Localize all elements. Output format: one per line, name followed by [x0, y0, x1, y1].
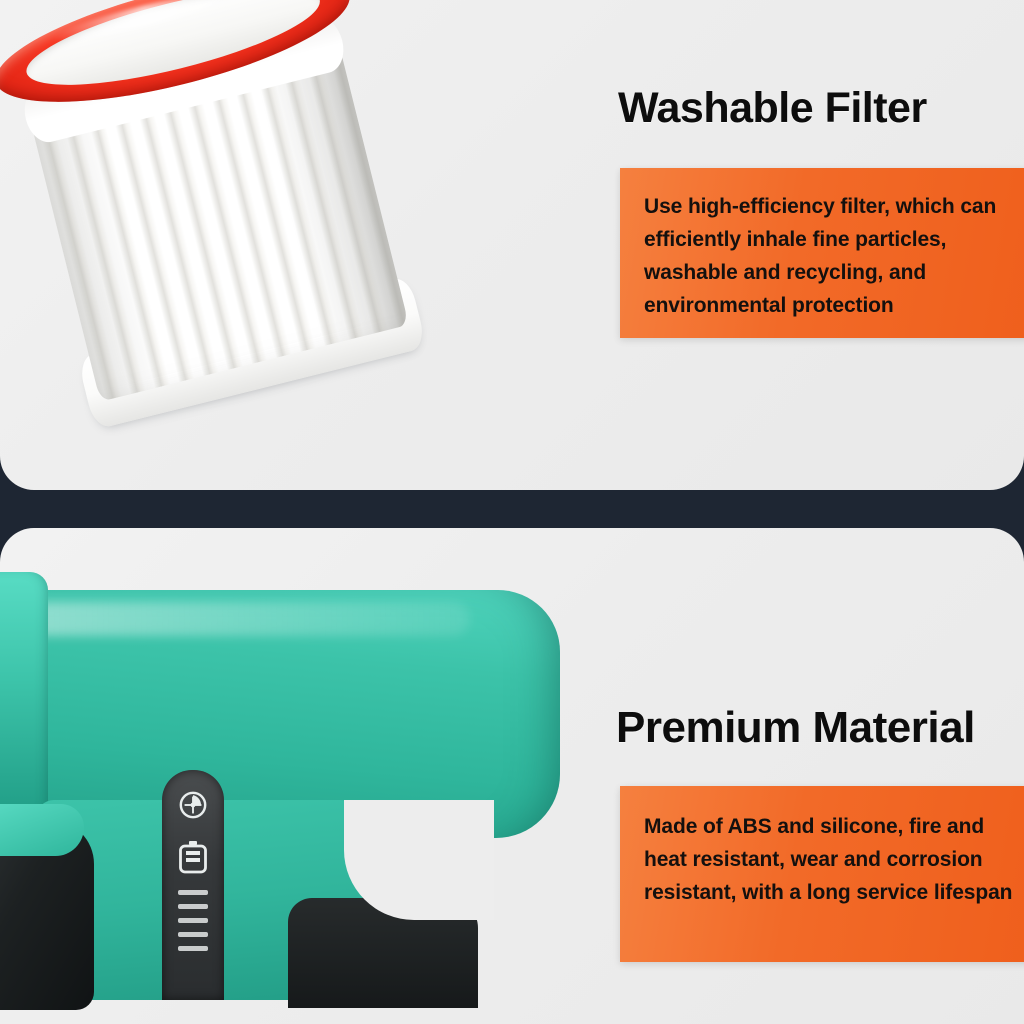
callout-text-premium-material: Made of ABS and silicone, fire and heat … — [644, 810, 1014, 909]
vacuum-underside-notch — [344, 800, 494, 920]
vacuum-front-collar — [0, 572, 48, 824]
fan-icon — [178, 790, 208, 820]
callout-text-washable-filter: Use high-efficiency filter, which can ef… — [644, 190, 1014, 322]
vacuum-barrel-highlight — [30, 602, 470, 636]
product-feature-banner: Washable Filter Use high-efficiency filt… — [0, 0, 1024, 1024]
callout-box-washable-filter: Use high-efficiency filter, which can ef… — [620, 168, 1024, 338]
battery-level-bars — [178, 890, 208, 960]
feature-panel-premium-material: Premium Material Made of ABS and silicon… — [0, 528, 1024, 1024]
handheld-vacuum-product-image — [0, 528, 600, 998]
page-title-premium-material: Premium Material — [616, 703, 975, 753]
page-title-washable-filter: Washable Filter — [618, 84, 927, 133]
washable-filter-product-image — [0, 0, 548, 460]
vacuum-trigger-tab — [0, 804, 84, 856]
battery-icon — [177, 840, 209, 874]
feature-panel-washable-filter: Washable Filter Use high-efficiency filt… — [0, 0, 1024, 490]
callout-box-premium-material: Made of ABS and silicone, fire and heat … — [620, 786, 1024, 962]
